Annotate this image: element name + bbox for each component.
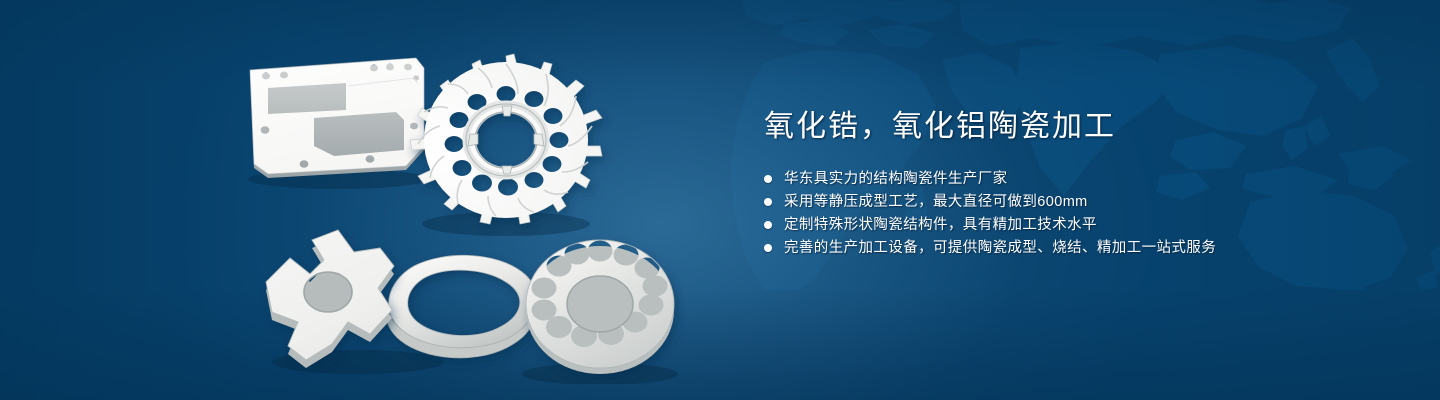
dot-icon — [764, 221, 772, 229]
feature-text: 华东具实力的结构陶瓷件生产厂家 — [784, 168, 1008, 191]
feature-text: 完善的生产加工设备，可提供陶瓷成型、烧结、精加工一站式服务 — [784, 237, 1216, 260]
dot-icon — [764, 175, 772, 183]
feature-list: 华东具实力的结构陶瓷件生产厂家 采用等静压成型工艺，最大直径可做到600mm 定… — [764, 168, 1384, 260]
list-item: 定制特殊形状陶瓷结构件，具有精加工技术水平 — [764, 214, 1384, 237]
page-title: 氧化锆，氧化铝陶瓷加工 — [764, 108, 1384, 146]
ceramic-products-image — [228, 34, 728, 384]
list-item: 完善的生产加工设备，可提供陶瓷成型、烧结、精加工一站式服务 — [764, 237, 1384, 260]
banner-copy: 氧化锆，氧化铝陶瓷加工 华东具实力的结构陶瓷件生产厂家 采用等静压成型工艺，最大… — [764, 108, 1384, 260]
list-item: 华东具实力的结构陶瓷件生产厂家 — [764, 168, 1384, 191]
dot-icon — [764, 244, 772, 252]
product-hero-banner: 氧化锆，氧化铝陶瓷加工 华东具实力的结构陶瓷件生产厂家 采用等静压成型工艺，最大… — [0, 0, 1440, 400]
dot-icon — [764, 198, 772, 206]
ceramic-perforated-ring — [228, 34, 728, 384]
feature-text: 采用等静压成型工艺，最大直径可做到600mm — [784, 191, 1088, 214]
list-item: 采用等静压成型工艺，最大直径可做到600mm — [764, 191, 1384, 214]
feature-text: 定制特殊形状陶瓷结构件，具有精加工技术水平 — [784, 214, 1097, 237]
